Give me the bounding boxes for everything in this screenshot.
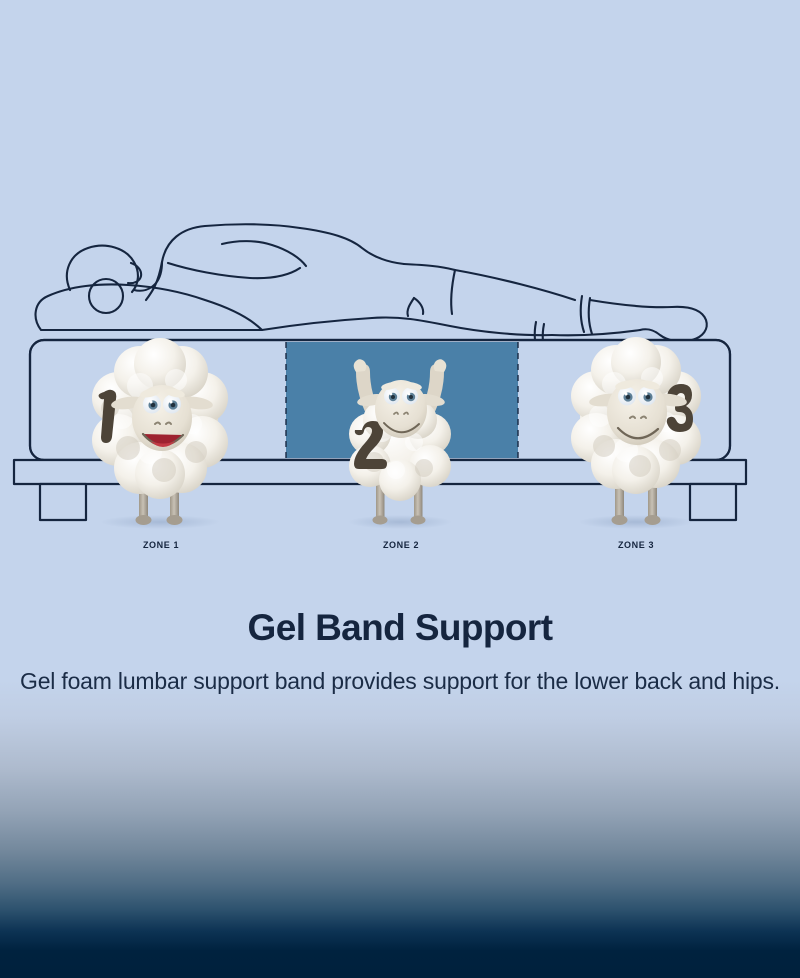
zone-label-2: ZONE 2 xyxy=(341,540,461,550)
product-feature-panel: ZONE 1 ZONE 2 ZONE 3 Gel Band Support Ge… xyxy=(0,0,800,978)
sleeping-figure xyxy=(36,224,707,354)
zone-label-1: ZONE 1 xyxy=(101,540,221,550)
mattress-illustration xyxy=(0,0,800,580)
zone-label-row: ZONE 1 ZONE 2 ZONE 3 xyxy=(0,540,800,556)
sheep-zone-2 xyxy=(348,359,452,529)
page-title: Gel Band Support xyxy=(0,605,800,651)
zone-label-3: ZONE 3 xyxy=(576,540,696,550)
feature-description: Gel foam lumbar support band provides su… xyxy=(0,665,800,698)
feature-text-block: Gel Band Support Gel foam lumbar support… xyxy=(0,605,800,698)
